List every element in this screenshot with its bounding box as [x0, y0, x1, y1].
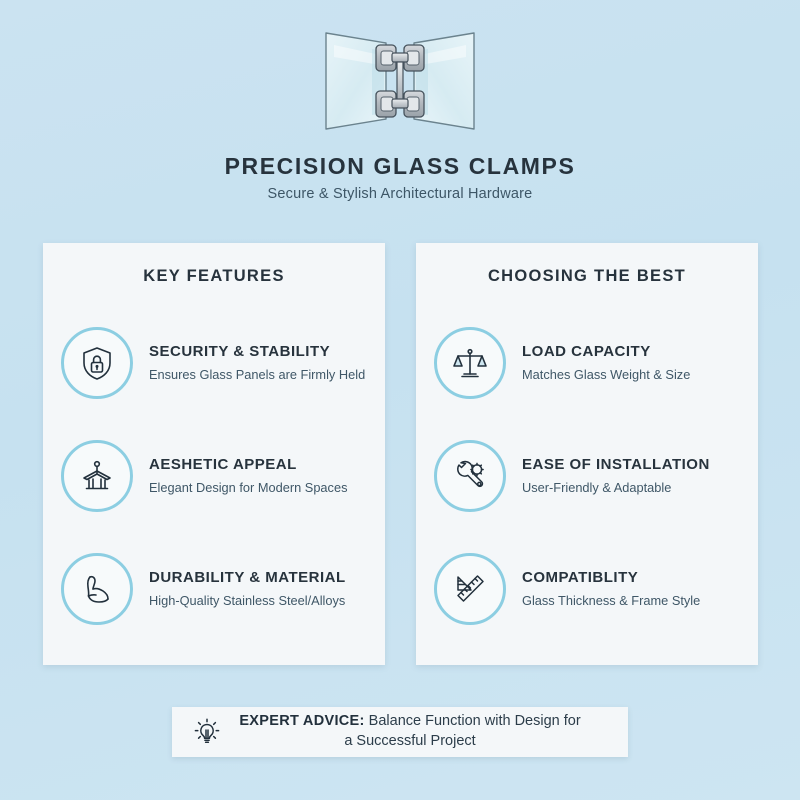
- feature-heading: SECURITY & STABILITY: [149, 343, 367, 361]
- shield-lock-icon: [61, 327, 133, 399]
- feature-row[interactable]: LOAD CAPACITY Matches Glass Weight & Siz…: [434, 306, 740, 419]
- feature-text: COMPATIBLITY Glass Thickness & Frame Sty…: [522, 569, 740, 609]
- expert-advice-banner: EXPERT ADVICE: Balance Function with Des…: [172, 707, 628, 757]
- feature-description: User-Friendly & Adaptable: [522, 480, 740, 496]
- feature-row[interactable]: COMPATIBLITY Glass Thickness & Frame Sty…: [434, 532, 740, 645]
- feature-heading: EASE OF INSTALLATION: [522, 456, 740, 474]
- card-title: KEY FEATURES: [61, 267, 367, 286]
- feature-description: Matches Glass Weight & Size: [522, 367, 740, 383]
- title-block: PRECISION GLASS CLAMPS Secure & Stylish …: [0, 154, 800, 202]
- feature-text: SECURITY & STABILITY Ensures Glass Panel…: [149, 343, 367, 383]
- glass-clamp-illustration: [320, 25, 480, 137]
- expert-advice-body: Balance Function with Design for a Succe…: [344, 713, 580, 749]
- feature-row[interactable]: DURABILITY & MATERIAL High-Quality Stain…: [61, 532, 367, 645]
- feature-heading: AESHETIC APPEAL: [149, 456, 367, 474]
- card-title: CHOOSING THE BEST: [434, 267, 740, 286]
- feature-description: High-Quality Stainless Steel/Alloys: [149, 593, 367, 609]
- clamp-connector-shaft: [397, 62, 403, 100]
- feature-row[interactable]: EASE OF INSTALLATION User-Friendly & Ada…: [434, 419, 740, 532]
- cards-container: KEY FEATURES SECURITY & STABILITY Ensure…: [43, 243, 758, 665]
- feature-row[interactable]: AESHETIC APPEAL Elegant Design for Moder…: [61, 419, 367, 532]
- hero-illustration: [0, 0, 800, 150]
- feature-text: DURABILITY & MATERIAL High-Quality Stain…: [149, 569, 367, 609]
- feature-description: Elegant Design for Modern Spaces: [149, 480, 367, 496]
- feature-heading: LOAD CAPACITY: [522, 343, 740, 361]
- wrench-gear-icon: [434, 440, 506, 512]
- card-key-features: KEY FEATURES SECURITY & STABILITY Ensure…: [43, 243, 385, 665]
- card-choosing-the-best: CHOOSING THE BEST LOAD CAPACITY Matches …: [416, 243, 758, 665]
- architecture-pavilion-icon: [61, 440, 133, 512]
- expert-advice-label: EXPERT ADVICE:: [239, 713, 364, 729]
- feature-row[interactable]: SECURITY & STABILITY Ensures Glass Panel…: [61, 306, 367, 419]
- feature-heading: COMPATIBLITY: [522, 569, 740, 587]
- feature-text: EASE OF INSTALLATION User-Friendly & Ada…: [522, 456, 740, 496]
- feature-text: LOAD CAPACITY Matches Glass Weight & Siz…: [522, 343, 740, 383]
- feature-heading: DURABILITY & MATERIAL: [149, 569, 367, 587]
- feature-description: Glass Thickness & Frame Style: [522, 593, 740, 609]
- balance-scales-icon: [434, 327, 506, 399]
- feature-description: Ensures Glass Panels are Firmly Held: [149, 367, 367, 383]
- ruler-square-icon: [434, 553, 506, 625]
- expert-advice-text: EXPERT ADVICE: Balance Function with Des…: [234, 712, 610, 751]
- flexed-bicep-icon: [61, 553, 133, 625]
- page-title: PRECISION GLASS CLAMPS: [0, 154, 800, 179]
- lightbulb-idea-icon: [190, 716, 224, 748]
- feature-text: AESHETIC APPEAL Elegant Design for Moder…: [149, 456, 367, 496]
- page-subtitle: Secure & Stylish Architectural Hardware: [0, 186, 800, 202]
